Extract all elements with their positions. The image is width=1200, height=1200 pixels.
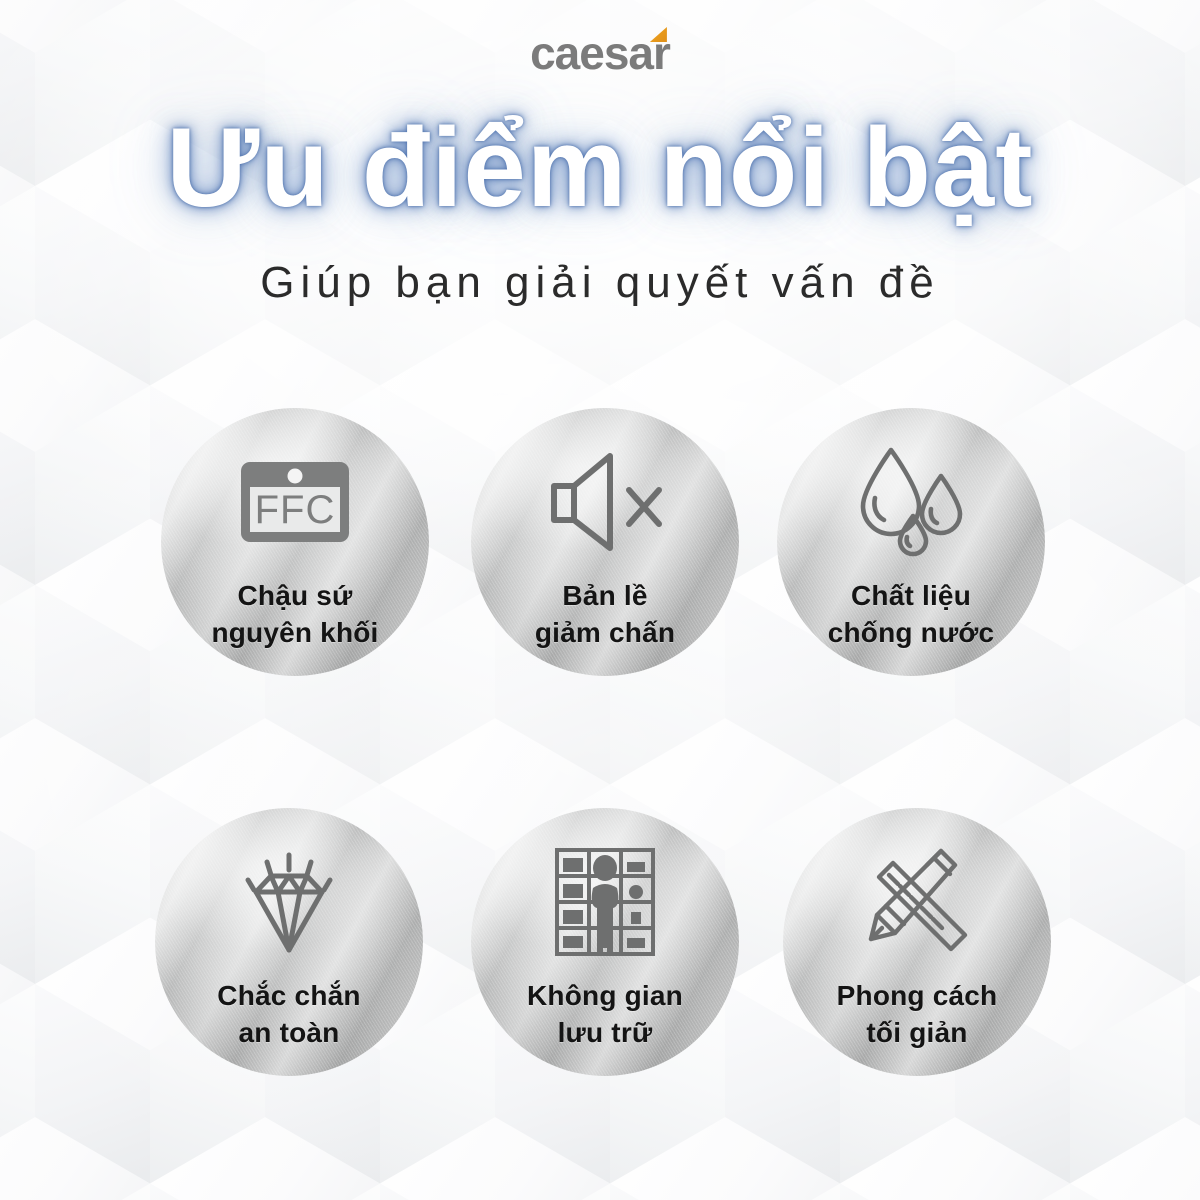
svg-text:FFC: FFC	[255, 488, 336, 532]
badge-label-line2: lưu trữ	[527, 1015, 683, 1052]
feature-badge-chac-chan[interactable]: Chắc chắn an toàn	[155, 808, 423, 1076]
pencil-ruler-icon	[855, 844, 979, 960]
speaker-mute-icon	[544, 444, 666, 560]
page-title: Ưu điểm nổi bật	[0, 108, 1200, 229]
feature-badge-chau-su[interactable]: FFC Chậu sứ nguyên khối	[161, 408, 429, 676]
water-drops-icon	[853, 444, 969, 560]
badge-label-line2: tối giản	[837, 1015, 998, 1052]
badge-label-line1: Phong cách	[837, 978, 998, 1015]
feature-badge-toi-gian[interactable]: Phong cách tối giản	[783, 808, 1051, 1076]
badge-label-line1: Chậu sứ	[211, 578, 378, 615]
feature-badge-ban-le[interactable]: Bản lề giảm chấn	[471, 408, 739, 676]
badge-label-line1: Chắc chắn	[217, 978, 360, 1015]
badge-label: Không gian lưu trữ	[527, 978, 683, 1052]
badge-label: Chậu sứ nguyên khối	[211, 578, 378, 652]
page-subtitle: Giúp bạn giải quyết vấn đề	[0, 258, 1200, 308]
badge-label-line1: Không gian	[527, 978, 683, 1015]
feature-badge-luu-tru[interactable]: Không gian lưu trữ	[471, 808, 739, 1076]
ffc-tag-icon: FFC	[239, 444, 351, 560]
badge-label-line1: Chất liệu	[828, 578, 995, 615]
badge-label: Chắc chắn an toàn	[217, 978, 360, 1052]
badge-label-line2: giảm chấn	[535, 615, 675, 652]
poster-canvas: caesar Ưu điểm nổi bật Giúp bạn giải quy…	[0, 0, 1200, 1200]
badge-label: Phong cách tối giản	[837, 978, 998, 1052]
badge-label-line2: chống nước	[828, 615, 995, 652]
brand-logo: caesar	[0, 30, 1200, 76]
logo-wordmark: caesar	[530, 30, 670, 76]
badge-label-line2: nguyên khối	[211, 615, 378, 652]
shelving-storage-icon	[551, 844, 659, 960]
badge-row-bottom: Chắc chắn an toàn	[0, 808, 1200, 1108]
logo-text: caesar	[530, 27, 670, 79]
badge-label: Bản lề giảm chấn	[535, 578, 675, 652]
badge-label: Chất liệu chống nước	[828, 578, 995, 652]
badge-label-line2: an toàn	[217, 1015, 360, 1052]
feature-badge-chong-nuoc[interactable]: Chất liệu chống nước	[777, 408, 1045, 676]
diamond-shine-icon	[226, 844, 352, 960]
feature-badge-grid: FFC Chậu sứ nguyên khối	[0, 408, 1200, 1108]
badge-label-line1: Bản lề	[535, 578, 675, 615]
badge-row-top: FFC Chậu sứ nguyên khối	[0, 408, 1200, 708]
